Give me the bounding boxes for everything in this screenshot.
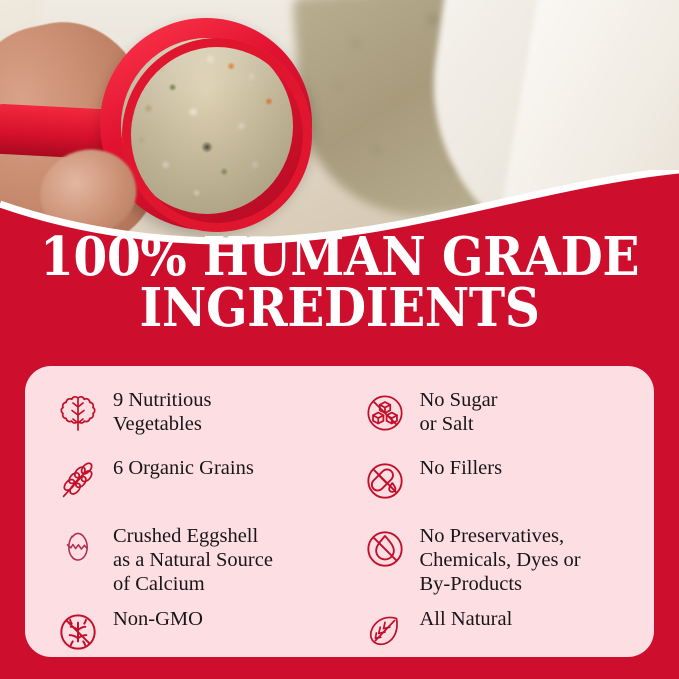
feature-label: All Natural [420,605,513,632]
feature-item: 6 Organic Grains [51,454,348,508]
feature-item: Non-GMO [51,605,348,661]
product-feature-card: 100% HUMAN GRADE INGREDIENTS 9 Nutriti [0,0,679,679]
wheat-icon [51,454,105,508]
page-title: 100% HUMAN GRADE INGREDIENTS [0,232,679,334]
eggshell-icon [51,522,105,576]
no-sugar-icon [358,386,412,440]
features-panel: 9 Nutritious Vegetables [25,366,654,657]
feature-label: 6 Organic Grains [113,454,254,481]
feature-label: No Sugar or Salt [420,386,498,437]
no-preservatives-icon [358,522,412,576]
feature-item: No Sugar or Salt [358,386,655,442]
feature-item: No Fillers [358,454,655,508]
feature-item: 9 Nutritious Vegetables [51,386,348,442]
leaf-icon [358,605,412,659]
no-fillers-icon [358,454,412,508]
features-right-column: No Sugar or Salt No Fillers [348,366,655,657]
feature-label: 9 Nutritious Vegetables [113,386,212,437]
features-left-column: 9 Nutritious Vegetables [25,366,348,657]
headline-line-2: INGREDIENTS [27,283,652,334]
feature-item: No Preservatives, Chemicals, Dyes or By-… [358,522,655,597]
feature-item: Crushed Eggshell as a Natural Source of … [51,522,348,597]
headline-line-1: 100% HUMAN GRADE [27,232,652,283]
feature-label: No Preservatives, Chemicals, Dyes or By-… [420,522,581,597]
feature-label: No Fillers [420,454,503,481]
feature-label: Crushed Eggshell as a Natural Source of … [113,522,273,597]
feature-item: All Natural [358,605,655,661]
lettuce-icon [51,386,105,440]
feature-label: Non-GMO [113,605,203,632]
no-gmo-icon [51,605,105,659]
